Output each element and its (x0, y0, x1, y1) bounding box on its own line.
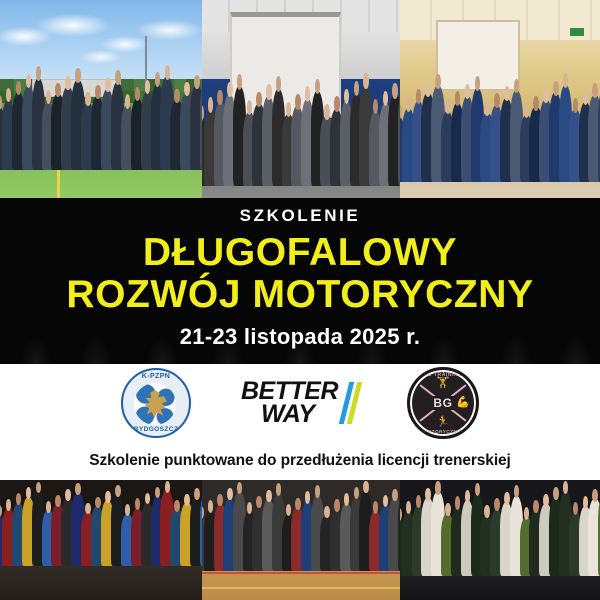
person-head (400, 508, 402, 521)
training-poster: SZKOLENIE DŁUGOFALOWY ROZWÓJ MOTORYCZNY … (0, 0, 600, 600)
person-head (543, 88, 549, 103)
crest-text-top: K-PZPN (123, 373, 189, 380)
people-row (400, 482, 600, 576)
person-head (85, 503, 91, 515)
kujawsko-pomorski-zpn-crest: K-PZPN BYDGOSZCZ (121, 368, 191, 438)
person-head (435, 481, 441, 494)
person-head (115, 485, 121, 497)
person-head (295, 94, 301, 110)
person-head (174, 500, 180, 512)
person-head (95, 497, 101, 509)
person-head (504, 492, 510, 505)
person-head (494, 93, 500, 108)
person-head (276, 483, 282, 495)
person-head (465, 84, 471, 99)
person-head (165, 65, 171, 79)
person-head (55, 495, 61, 507)
person-head (363, 73, 369, 89)
person-head (494, 498, 500, 511)
licence-note-banner: Szkolenie punktowane do przedłużenia lic… (0, 442, 600, 480)
person-head (256, 92, 262, 108)
person-head (533, 96, 539, 111)
person-head (324, 104, 330, 120)
person-head (354, 487, 360, 499)
group-photo-certificates (400, 480, 600, 600)
person-head (155, 72, 161, 86)
people-row (202, 75, 400, 186)
athlete-bench-icon: 💪 (456, 398, 470, 409)
person-head (266, 84, 272, 100)
person-head (286, 102, 292, 118)
person-head (543, 494, 549, 507)
event-dates: 21-23 listopada 2025 r. (0, 324, 600, 350)
person-head (504, 86, 510, 101)
exit-sign-icon (570, 28, 584, 36)
person-head (105, 78, 111, 92)
person-head (425, 82, 431, 97)
person-head (295, 498, 301, 510)
person-head (208, 500, 214, 512)
person-head (194, 488, 200, 500)
person-head (484, 505, 490, 518)
page-title: DŁUGOFALOWY ROZWÓJ MOTORYCZNY (0, 232, 600, 316)
person-head (324, 506, 330, 518)
person-head (46, 501, 52, 513)
group-photo-hall-yellow-wall (400, 0, 600, 198)
person-head (65, 76, 71, 90)
double-slash-icon (339, 382, 362, 424)
badge-text-bottom: MOTORYCZNIE (410, 429, 476, 434)
person-head (0, 95, 2, 109)
person-head (592, 489, 598, 502)
person-head (286, 504, 292, 516)
person-head (217, 90, 223, 106)
person-head (354, 81, 360, 97)
crest-text-bottom: BYDGOSZCZ (123, 426, 189, 433)
better-way-logo: BETTER WAY (241, 380, 357, 426)
person-head (484, 101, 490, 116)
person-head (315, 485, 321, 497)
person-head (425, 488, 431, 501)
person-head (392, 489, 398, 501)
person-head (334, 499, 340, 511)
court-line-yellow (202, 587, 400, 589)
person-head (184, 82, 190, 96)
person-head (475, 76, 481, 91)
people-row (0, 482, 202, 566)
person-head (165, 481, 171, 493)
person-head (202, 105, 204, 121)
licence-note-text: Szkolenie punktowane do przedłużenia lic… (89, 452, 511, 470)
person-head (524, 103, 530, 118)
bottom-photo-strip (0, 480, 600, 600)
person-head (583, 90, 589, 105)
person-head (435, 74, 441, 89)
way-word: WAY (241, 403, 338, 426)
person-head (75, 483, 81, 495)
person-head (227, 82, 233, 98)
group-photo-gym-blue-wall (202, 0, 400, 198)
headline-line-2: ROZWÓJ MOTORYCZNY (0, 274, 600, 316)
people-row (400, 75, 600, 182)
person-head (266, 490, 272, 502)
person-head (194, 75, 200, 89)
person-head (553, 487, 559, 500)
person-head (115, 70, 121, 84)
person-head (583, 496, 589, 509)
person-head (247, 100, 253, 116)
person-head (75, 68, 81, 82)
court-line-red (202, 572, 400, 574)
person-head (524, 507, 530, 520)
person-head (105, 491, 111, 503)
person-head (85, 92, 91, 106)
person-head (445, 99, 451, 114)
person-head (344, 493, 350, 505)
group-photo-dark-hall (0, 480, 202, 600)
people-row (0, 67, 202, 170)
headline-line-1: DŁUGOFALOWY (0, 232, 600, 274)
people-row (202, 482, 400, 571)
person-head (334, 96, 340, 112)
athlete-running-icon: 🏃 (436, 417, 450, 428)
person-head (392, 83, 398, 99)
person-head (202, 506, 204, 518)
person-head (592, 83, 598, 98)
person-head (184, 494, 190, 506)
athlete-overhead-icon: 🏋 (436, 378, 450, 389)
person-head (363, 481, 369, 493)
person-head (256, 496, 262, 508)
group-photo-wooden-sports-hall (202, 480, 400, 600)
sponsor-logo-band: K-PZPN BYDGOSZCZ BETTER WAY BG TRAINING … (0, 364, 600, 442)
person-head (416, 495, 422, 508)
person-head (65, 489, 71, 501)
person-head (95, 85, 101, 99)
person-head (36, 66, 42, 80)
title-band: SZKOLENIE DŁUGOFALOWY ROZWÓJ MOTORYCZNY … (0, 198, 600, 364)
group-photo-outdoor-pitch (0, 0, 202, 198)
person-head (227, 488, 233, 500)
better-way-wordmark: BETTER WAY (241, 380, 338, 426)
person-head (553, 81, 559, 96)
person-head (573, 98, 579, 113)
top-photo-strip (0, 0, 600, 198)
bg-training-badge: BG TRAINING 🏋 💪 🏃 BG MOTORYCZNIE (407, 367, 479, 439)
kicker-label: SZKOLENIE (0, 206, 600, 226)
person-head (445, 503, 451, 516)
badge-monogram: BG (431, 396, 454, 410)
